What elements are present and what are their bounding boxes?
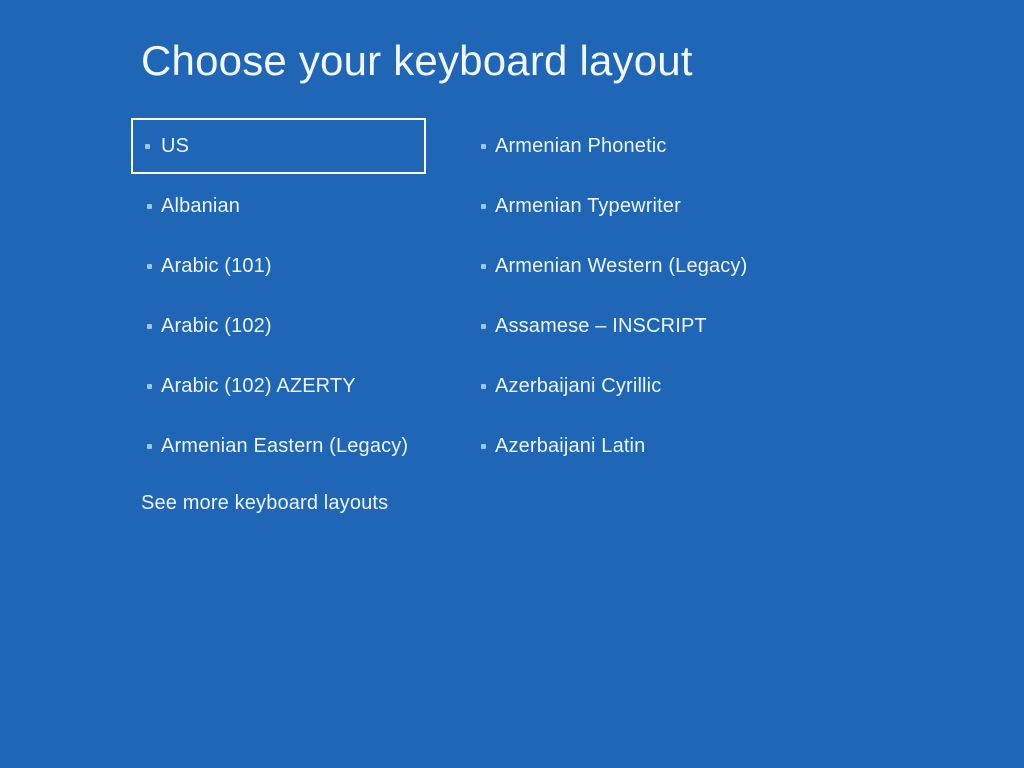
keyboard-layout-option-label: Assamese – INSCRIPT [495, 315, 707, 338]
keyboard-layout-option[interactable]: Armenian Typewriter [465, 178, 805, 234]
bullet-icon [145, 144, 150, 149]
keyboard-layout-option[interactable]: Arabic (102) AZERTY [131, 358, 461, 414]
keyboard-layout-option[interactable]: Armenian Western (Legacy) [465, 238, 805, 294]
keyboard-layout-option[interactable]: Albanian [131, 178, 461, 234]
keyboard-layout-option-label: US [161, 135, 189, 158]
keyboard-layout-option-label: Armenian Typewriter [495, 195, 681, 218]
bullet-icon [481, 144, 486, 149]
keyboard-layout-option-label: Albanian [161, 195, 240, 218]
keyboard-layout-option-label: Arabic (101) [161, 255, 272, 278]
keyboard-layout-option-label: Armenian Phonetic [495, 135, 667, 158]
keyboard-layout-option[interactable]: Armenian Eastern (Legacy) [131, 418, 461, 474]
keyboard-layout-option[interactable]: US [131, 118, 426, 174]
keyboard-layout-option-label: Arabic (102) [161, 315, 272, 338]
bullet-icon [481, 324, 486, 329]
bullet-icon [481, 204, 486, 209]
keyboard-layout-option[interactable]: Azerbaijani Latin [465, 418, 805, 474]
keyboard-layout-option[interactable]: Armenian Phonetic [465, 118, 805, 174]
keyboard-layout-list-right: Armenian PhoneticArmenian TypewriterArme… [465, 118, 805, 478]
keyboard-layout-option-label: Arabic (102) AZERTY [161, 375, 356, 398]
bullet-icon [481, 444, 486, 449]
keyboard-layout-option[interactable]: Azerbaijani Cyrillic [465, 358, 805, 414]
page-title: Choose your keyboard layout [141, 38, 693, 84]
bullet-icon [481, 264, 486, 269]
keyboard-layout-option-label: Azerbaijani Latin [495, 435, 645, 458]
keyboard-layout-screen: Choose your keyboard layout USAlbanianAr… [0, 0, 1024, 768]
keyboard-layout-option[interactable]: Assamese – INSCRIPT [465, 298, 805, 354]
bullet-icon [147, 444, 152, 449]
bullet-icon [147, 204, 152, 209]
keyboard-layout-option-label: Armenian Eastern (Legacy) [161, 435, 408, 458]
see-more-keyboard-layouts-link[interactable]: See more keyboard layouts [141, 492, 388, 515]
bullet-icon [481, 384, 486, 389]
bullet-icon [147, 384, 152, 389]
bullet-icon [147, 264, 152, 269]
keyboard-layout-option-label: Azerbaijani Cyrillic [495, 375, 661, 398]
keyboard-layout-option-label: Armenian Western (Legacy) [495, 255, 747, 278]
bullet-icon [147, 324, 152, 329]
keyboard-layout-list-left: USAlbanianArabic (101)Arabic (102)Arabic… [131, 118, 461, 478]
keyboard-layout-option[interactable]: Arabic (102) [131, 298, 461, 354]
keyboard-layout-option[interactable]: Arabic (101) [131, 238, 461, 294]
